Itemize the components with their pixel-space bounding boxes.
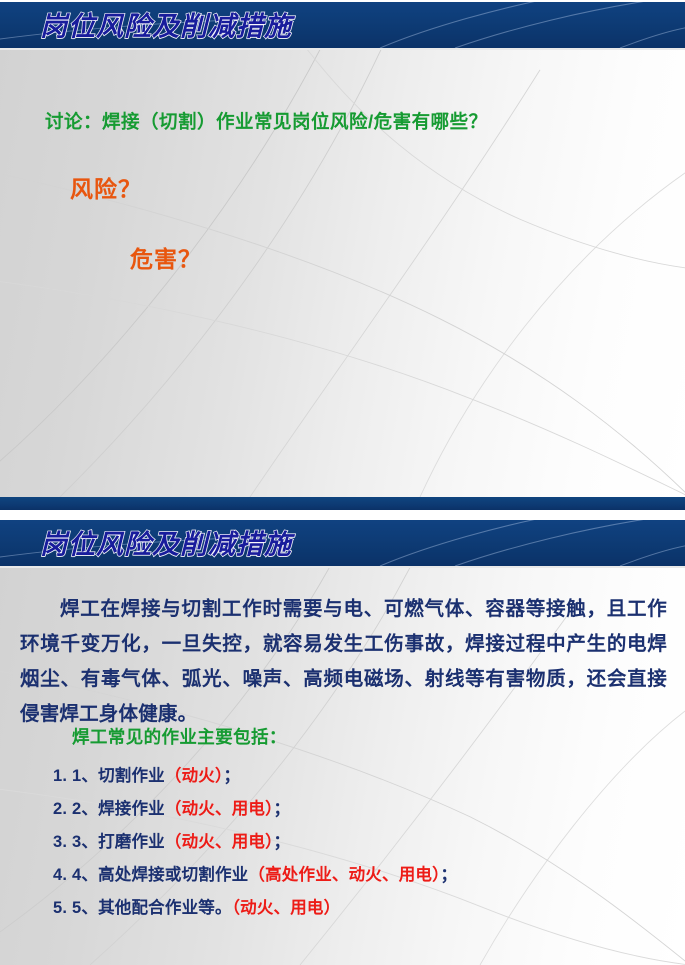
list-item-text: 焊接作业 <box>98 800 165 818</box>
list-item-number: 3、 <box>72 833 98 851</box>
list-item-tags: （高处作业、动火、用电） <box>248 866 440 884</box>
list-item-tags: （动火、用电） <box>165 800 274 818</box>
list-item-text: 高处焊接或切割作业 <box>98 866 248 884</box>
list-item-number: 5、 <box>72 899 98 917</box>
list-item-number: 2、 <box>72 800 98 818</box>
list-item-tags: （动火、用电） <box>232 899 341 917</box>
list-item-tail: ； <box>274 800 291 818</box>
question-risk: 风险？ <box>70 170 142 204</box>
question-hazard: 危害？ <box>130 240 202 274</box>
slide-2-content: 焊工在焊接与切割工作时需要与电、可燃气体、容器等接触，且工作环境千变万化，一旦失… <box>0 568 685 965</box>
slide-1-content: 讨论：焊接（切割）作业常见岗位风险/危害有哪些？ 风险？ 危害？ <box>0 50 685 497</box>
discussion-prompt: 讨论：焊接（切割）作业常见岗位风险/危害有哪些？ <box>45 108 488 134</box>
subheading-common-operations: 焊工常见的作业主要包括： <box>72 724 287 749</box>
page-title: 岗位风险及削减措施 <box>40 5 292 44</box>
list-item-tail: ； <box>274 833 291 851</box>
list-item-text: 打磨作业 <box>98 833 165 851</box>
list-item-tags: （动火、用电） <box>165 833 274 851</box>
intro-paragraph: 焊工在焊接与切割工作时需要与电、可燃气体、容器等接触，且工作环境千变万化，一旦失… <box>20 592 667 732</box>
list-item-tail: ； <box>441 866 458 884</box>
slide-1-title-bar: 岗位风险及削减措施 <box>0 2 685 50</box>
list-item-number: 1、 <box>72 767 98 785</box>
list-item: 1、切割作业（动火）； <box>72 760 675 793</box>
list-item-text: 其他配合作业等。 <box>98 899 232 917</box>
slide-1-footer-band <box>0 497 685 510</box>
operations-list: 1、切割作业（动火）； 2、焊接作业（动火、用电）； 3、打磨作业（动火、用电）… <box>72 760 675 925</box>
list-item: 4、高处焊接或切割作业（高处作业、动火、用电）； <box>72 859 675 892</box>
list-item-text: 切割作业 <box>98 767 165 785</box>
list-item: 2、焊接作业（动火、用电）； <box>72 793 675 826</box>
list-item: 5、其他配合作业等。（动火、用电） <box>72 892 675 925</box>
list-item-number: 4、 <box>72 866 98 884</box>
list-item-tags: （动火） <box>165 767 224 785</box>
list-item: 3、打磨作业（动火、用电）； <box>72 826 675 859</box>
slide-2-title-bar: 岗位风险及削减措施 <box>0 520 685 568</box>
slide-1: 岗位风险及削减措施 讨论：焊接（切割）作业常见岗位风险/危害有哪些？ 风险？ 危… <box>0 0 685 510</box>
slide-deck: 岗位风险及削减措施 讨论：焊接（切割）作业常见岗位风险/危害有哪些？ 风险？ 危… <box>0 0 685 965</box>
slide-2: 岗位风险及削减措施 焊工在焊接与切割工作时需要与电、可燃气体、容器等接触，且工作… <box>0 518 685 965</box>
page-title: 岗位风险及削减措施 <box>40 523 292 562</box>
list-item-tail: ； <box>223 767 240 785</box>
